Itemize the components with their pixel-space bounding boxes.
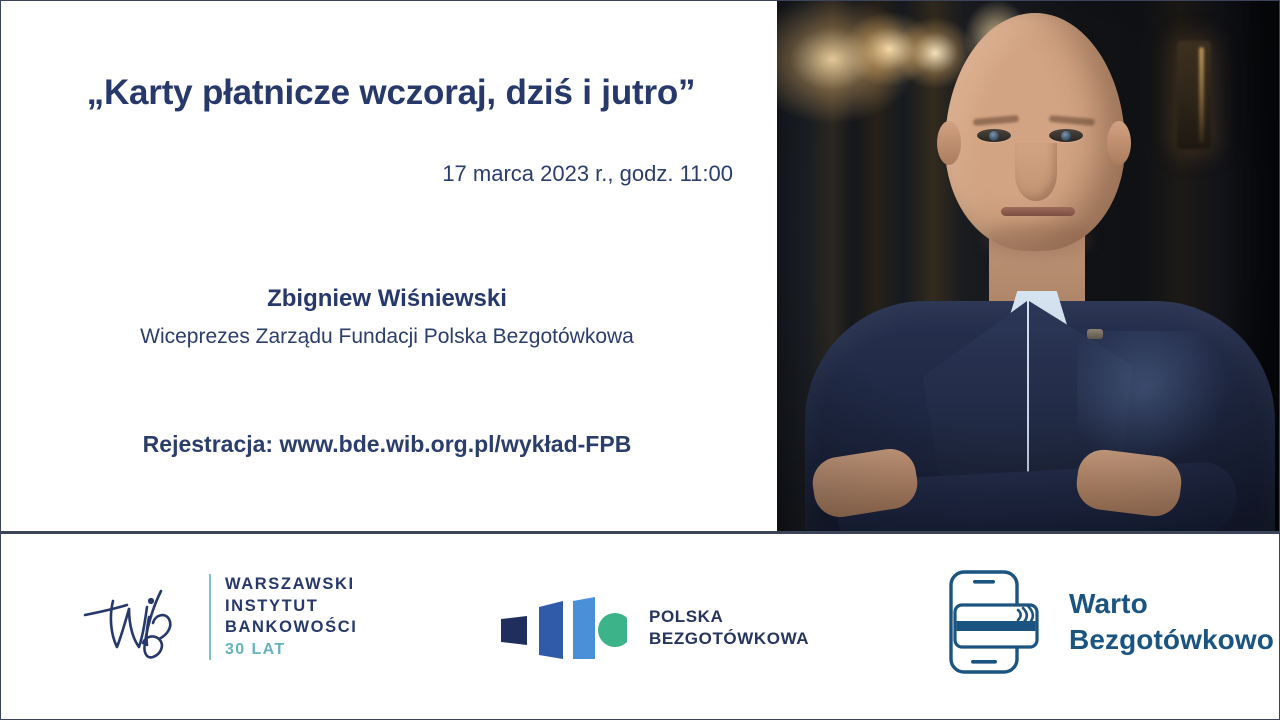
event-title: „Karty płatnicze wczoraj, dziś i jutro” xyxy=(41,73,741,113)
registration-link[interactable]: Rejestracja: www.bde.wib.org.pl/wykład-F… xyxy=(41,431,733,458)
banner-top-section: „Karty płatnicze wczoraj, dziś i jutro” … xyxy=(1,1,1280,532)
wib-line-3: BANKOWOŚCI xyxy=(225,617,357,639)
phone-contactless-card-icon xyxy=(943,567,1049,677)
wib-line-1: WARSZAWSKI xyxy=(225,574,357,596)
pb-line-1: POLSKA xyxy=(649,606,809,628)
logo-warto-bezgotowkowo[interactable]: Warto Bezgotówkowo xyxy=(943,567,1274,677)
wib-line-2: INSTYTUT xyxy=(225,596,357,618)
wb-line-1: Warto xyxy=(1069,586,1274,622)
speaker-name: Zbigniew Wiśniewski xyxy=(41,285,733,313)
logo-polska-bezgotowkowa[interactable]: POLSKA BEZGOTÓWKOWA xyxy=(497,597,809,659)
speaker-photo xyxy=(777,1,1280,533)
photo-vignette xyxy=(777,1,1280,533)
event-banner: „Karty płatnicze wczoraj, dziś i jutro” … xyxy=(0,0,1280,720)
polska-bezgotowkowa-wordmark: POLSKA BEZGOTÓWKOWA xyxy=(649,606,809,650)
polska-bezgotowkowa-icon xyxy=(497,597,627,659)
event-date: 17 marca 2023 r., godz. 11:00 xyxy=(41,161,733,187)
logo-warszawski-instytut-bankowosci[interactable]: WARSZAWSKI INSTYTUT BANKOWOŚCI 30 LAT xyxy=(83,571,357,663)
wb-line-2: Bezgotówkowo xyxy=(1069,622,1274,658)
banner-text-pane: „Karty płatnicze wczoraj, dziś i jutro” … xyxy=(1,1,777,532)
wib-wordmark: WARSZAWSKI INSTYTUT BANKOWOŚCI 30 LAT xyxy=(225,574,357,660)
wib-signature-icon xyxy=(83,571,195,663)
warto-bezgotowkowo-wordmark: Warto Bezgotówkowo xyxy=(1069,586,1274,659)
wib-divider-rule xyxy=(209,574,211,660)
speaker-role: Wiceprezes Zarządu Fundacji Polska Bezgo… xyxy=(41,325,733,349)
wib-anniversary: 30 LAT xyxy=(225,639,357,660)
pb-line-2: BEZGOTÓWKOWA xyxy=(649,628,809,650)
